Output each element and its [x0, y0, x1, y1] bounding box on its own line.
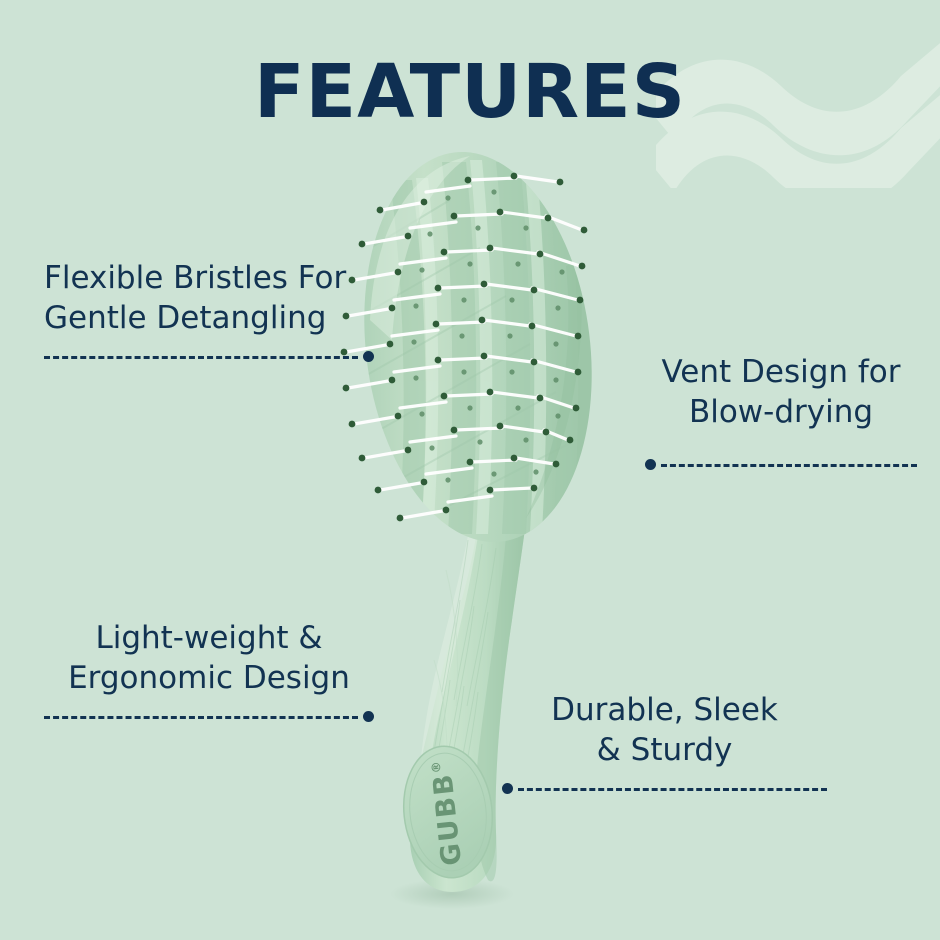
dashed-line	[661, 464, 917, 467]
leader-endpoint-dot	[363, 711, 374, 722]
feature-label-flexible-bristles: Flexible Bristles For Gentle Detangling	[44, 258, 374, 339]
dashed-line	[44, 356, 358, 359]
feature-label-durable-sturdy: Durable, Sleek & Sturdy	[502, 690, 827, 771]
dashed-line	[44, 716, 358, 719]
feature-callout-vent-design: Vent Design for Blow-drying	[645, 352, 917, 471]
feature-label-light-weight: Light-weight & Ergonomic Design	[44, 618, 374, 699]
leader-line-vent-design	[645, 459, 917, 471]
brush-head	[341, 140, 613, 555]
leader-endpoint-dot	[502, 783, 513, 794]
feature-callout-durable-sturdy: Durable, Sleek & Sturdy	[502, 690, 827, 795]
product-hair-brush-image: GUBB®	[330, 140, 640, 920]
leader-endpoint-dot	[645, 459, 656, 470]
page-title: FEATURES	[0, 55, 940, 129]
feature-callout-flexible-bristles: Flexible Bristles For Gentle Detangling	[44, 258, 374, 363]
leader-line-light-weight	[44, 711, 374, 723]
leader-line-durable-sturdy	[502, 783, 827, 795]
leader-endpoint-dot	[363, 351, 374, 362]
dashed-line	[518, 788, 827, 791]
infographic-canvas: FEATURES	[0, 0, 940, 940]
feature-label-vent-design: Vent Design for Blow-drying	[645, 352, 917, 433]
feature-callout-light-weight: Light-weight & Ergonomic Design	[44, 618, 374, 723]
leader-line-flexible-bristles	[44, 351, 374, 363]
